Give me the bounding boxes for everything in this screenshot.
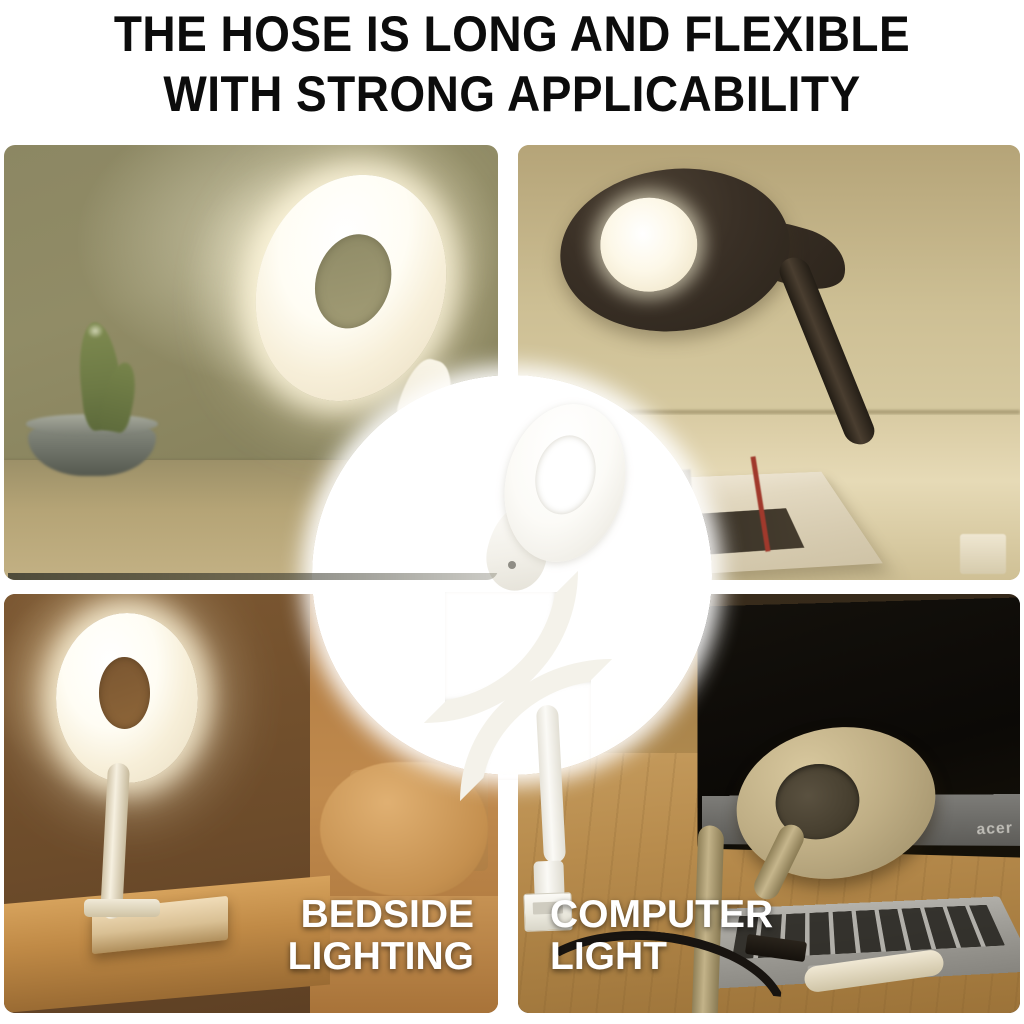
lamp-gooseneck bbox=[100, 763, 130, 920]
panel-label-computer-light: COMPUTER LIGHT bbox=[550, 894, 773, 977]
headline-line-2: WITH STRONG APPLICABILITY bbox=[41, 64, 983, 124]
acer-logo: acer bbox=[976, 819, 1013, 838]
panel-label-bedside-lighting: BEDSIDE LIGHTING bbox=[288, 894, 474, 977]
product-touch-sensor-dot bbox=[508, 561, 516, 569]
headline: THE HOSE IS LONG AND FLEXIBLE WITH STRON… bbox=[0, 0, 1024, 135]
ring-lamp-black bbox=[550, 159, 910, 409]
label-band-overlay bbox=[8, 573, 498, 580]
lamp-head-ring bbox=[724, 712, 947, 894]
ring-hole bbox=[99, 657, 150, 728]
lamp-base bbox=[84, 899, 160, 917]
lamp-head-ring bbox=[56, 613, 198, 783]
led-glow-center bbox=[596, 193, 702, 297]
ring-lamp-white bbox=[50, 613, 210, 913]
wall-socket bbox=[960, 534, 1006, 574]
product-feature-image: THE HOSE IS LONG AND FLEXIBLE WITH STRON… bbox=[0, 0, 1024, 1024]
product-ring-hole bbox=[527, 429, 604, 521]
lamp-head-ring bbox=[552, 157, 798, 342]
headline-line-1: THE HOSE IS LONG AND FLEXIBLE bbox=[41, 0, 983, 64]
